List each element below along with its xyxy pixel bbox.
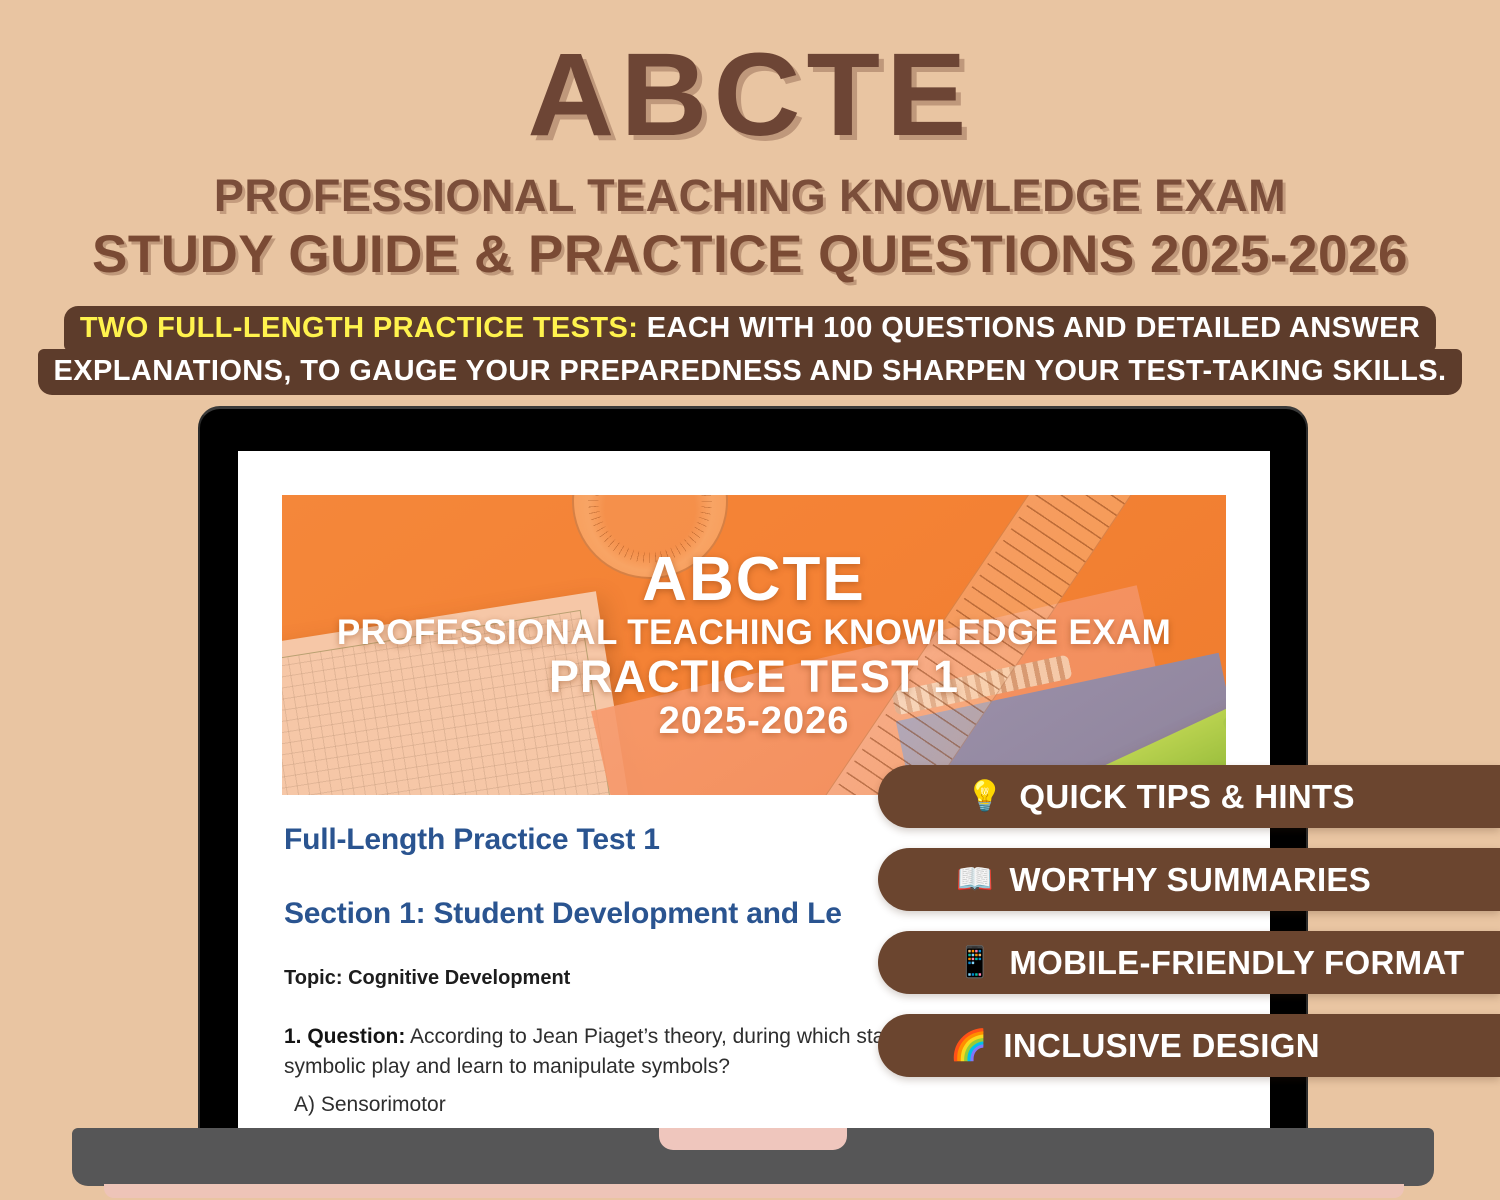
feature-badge-worthy-summaries[interactable]: 📖 WORTHY SUMMARIES xyxy=(878,848,1500,911)
page-subtitle-guide: STUDY GUIDE & PRACTICE QUESTIONS 2025-20… xyxy=(0,224,1500,285)
feature-badge-mobile-friendly[interactable]: 📱 MOBILE-FRIENDLY FORMAT xyxy=(878,931,1500,994)
rainbow-icon: 🌈 xyxy=(950,1031,987,1061)
ebook-cover-text: ABCTE PROFESSIONAL TEACHING KNOWLEDGE EX… xyxy=(282,495,1226,795)
feature-badge-inclusive-design[interactable]: 🌈 INCLUSIVE DESIGN xyxy=(878,1014,1500,1077)
feature-badge-label: INCLUSIVE DESIGN xyxy=(1003,1027,1320,1065)
ebook-cover-image: ABCTE PROFESSIONAL TEACHING KNOWLEDGE EX… xyxy=(282,495,1226,795)
promo-banner-highlight: TWO FULL-LENGTH PRACTICE TESTS: xyxy=(80,312,639,344)
open-book-icon: 📖 xyxy=(956,865,993,895)
feature-badge-label: MOBILE-FRIENDLY FORMAT xyxy=(1009,944,1464,982)
mobile-phone-icon: 📱 xyxy=(956,948,993,978)
promo-banner: TWO FULL-LENGTH PRACTICE TESTS: EACH WIT… xyxy=(0,306,1500,395)
promo-banner-line-2: EXPLANATIONS, TO GAUGE YOUR PREPAREDNESS… xyxy=(38,349,1463,394)
page-subtitle-exam: PROFESSIONAL TEACHING KNOWLEDGE EXAM xyxy=(0,170,1500,222)
cover-test-label: PRACTICE TEST 1 xyxy=(549,653,959,700)
feature-badge-list: 💡 QUICK TIPS & HINTS 📖 WORTHY SUMMARIES … xyxy=(878,765,1500,1097)
promo-banner-line-1-rest: EACH WITH 100 QUESTIONS AND DETAILED ANS… xyxy=(638,312,1420,344)
laptop-base xyxy=(72,1128,1434,1186)
cover-year: 2025-2026 xyxy=(659,702,850,742)
cover-subtitle: PROFESSIONAL TEACHING KNOWLEDGE EXAM xyxy=(337,615,1171,652)
lightbulb-icon: 💡 xyxy=(966,782,1003,812)
promo-banner-line-1: TWO FULL-LENGTH PRACTICE TESTS: EACH WIT… xyxy=(64,306,1436,351)
feature-badge-label: QUICK TIPS & HINTS xyxy=(1019,778,1354,816)
feature-badge-quick-tips[interactable]: 💡 QUICK TIPS & HINTS xyxy=(878,765,1500,828)
laptop-base-shadow xyxy=(104,1184,1404,1198)
feature-badge-label: WORTHY SUMMARIES xyxy=(1009,861,1371,899)
laptop-base-notch xyxy=(659,1128,847,1150)
page-header: ABCTE PROFESSIONAL TEACHING KNOWLEDGE EX… xyxy=(0,0,1500,285)
question-number: 1. Question: xyxy=(284,1025,405,1048)
page-title: ABCTE xyxy=(0,0,1500,158)
cover-title: ABCTE xyxy=(642,549,866,611)
